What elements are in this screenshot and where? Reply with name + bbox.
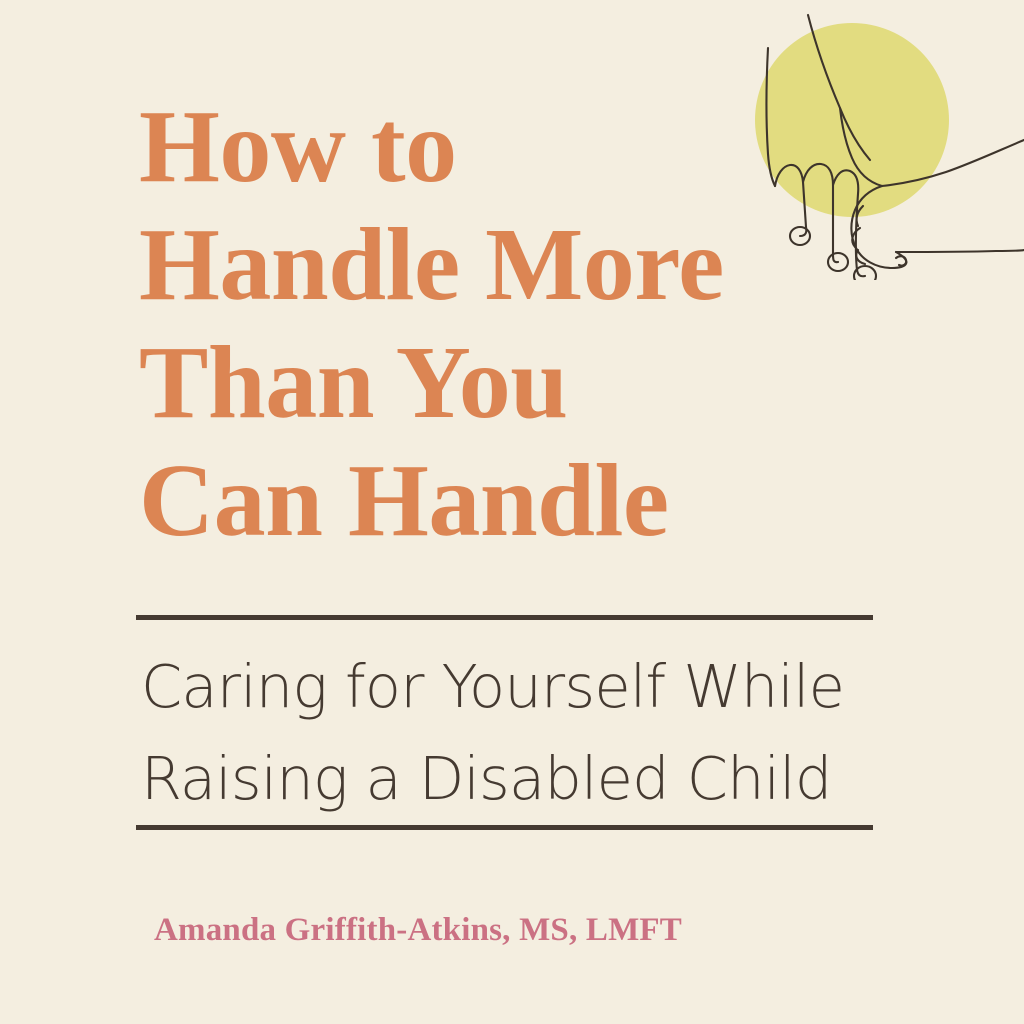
title-line-2: Handle More — [139, 206, 939, 324]
page-title: How to Handle More Than You Can Handle — [139, 88, 939, 560]
title-line-1: How to — [139, 88, 939, 206]
page-subtitle: Caring for Yourself While Raising a Disa… — [141, 641, 961, 825]
subtitle-line-1: Caring for Yourself While — [141, 641, 961, 733]
divider-above-subtitle — [136, 615, 873, 620]
title-line-4: Can Handle — [139, 442, 939, 560]
book-cover: How to Handle More Than You Can Handle C… — [0, 0, 1024, 1024]
author-name: Amanda Griffith-Atkins, MS, LMFT — [154, 912, 682, 949]
divider-below-subtitle — [136, 825, 873, 830]
title-line-3: Than You — [139, 324, 939, 442]
subtitle-line-2: Raising a Disabled Child — [141, 733, 961, 825]
